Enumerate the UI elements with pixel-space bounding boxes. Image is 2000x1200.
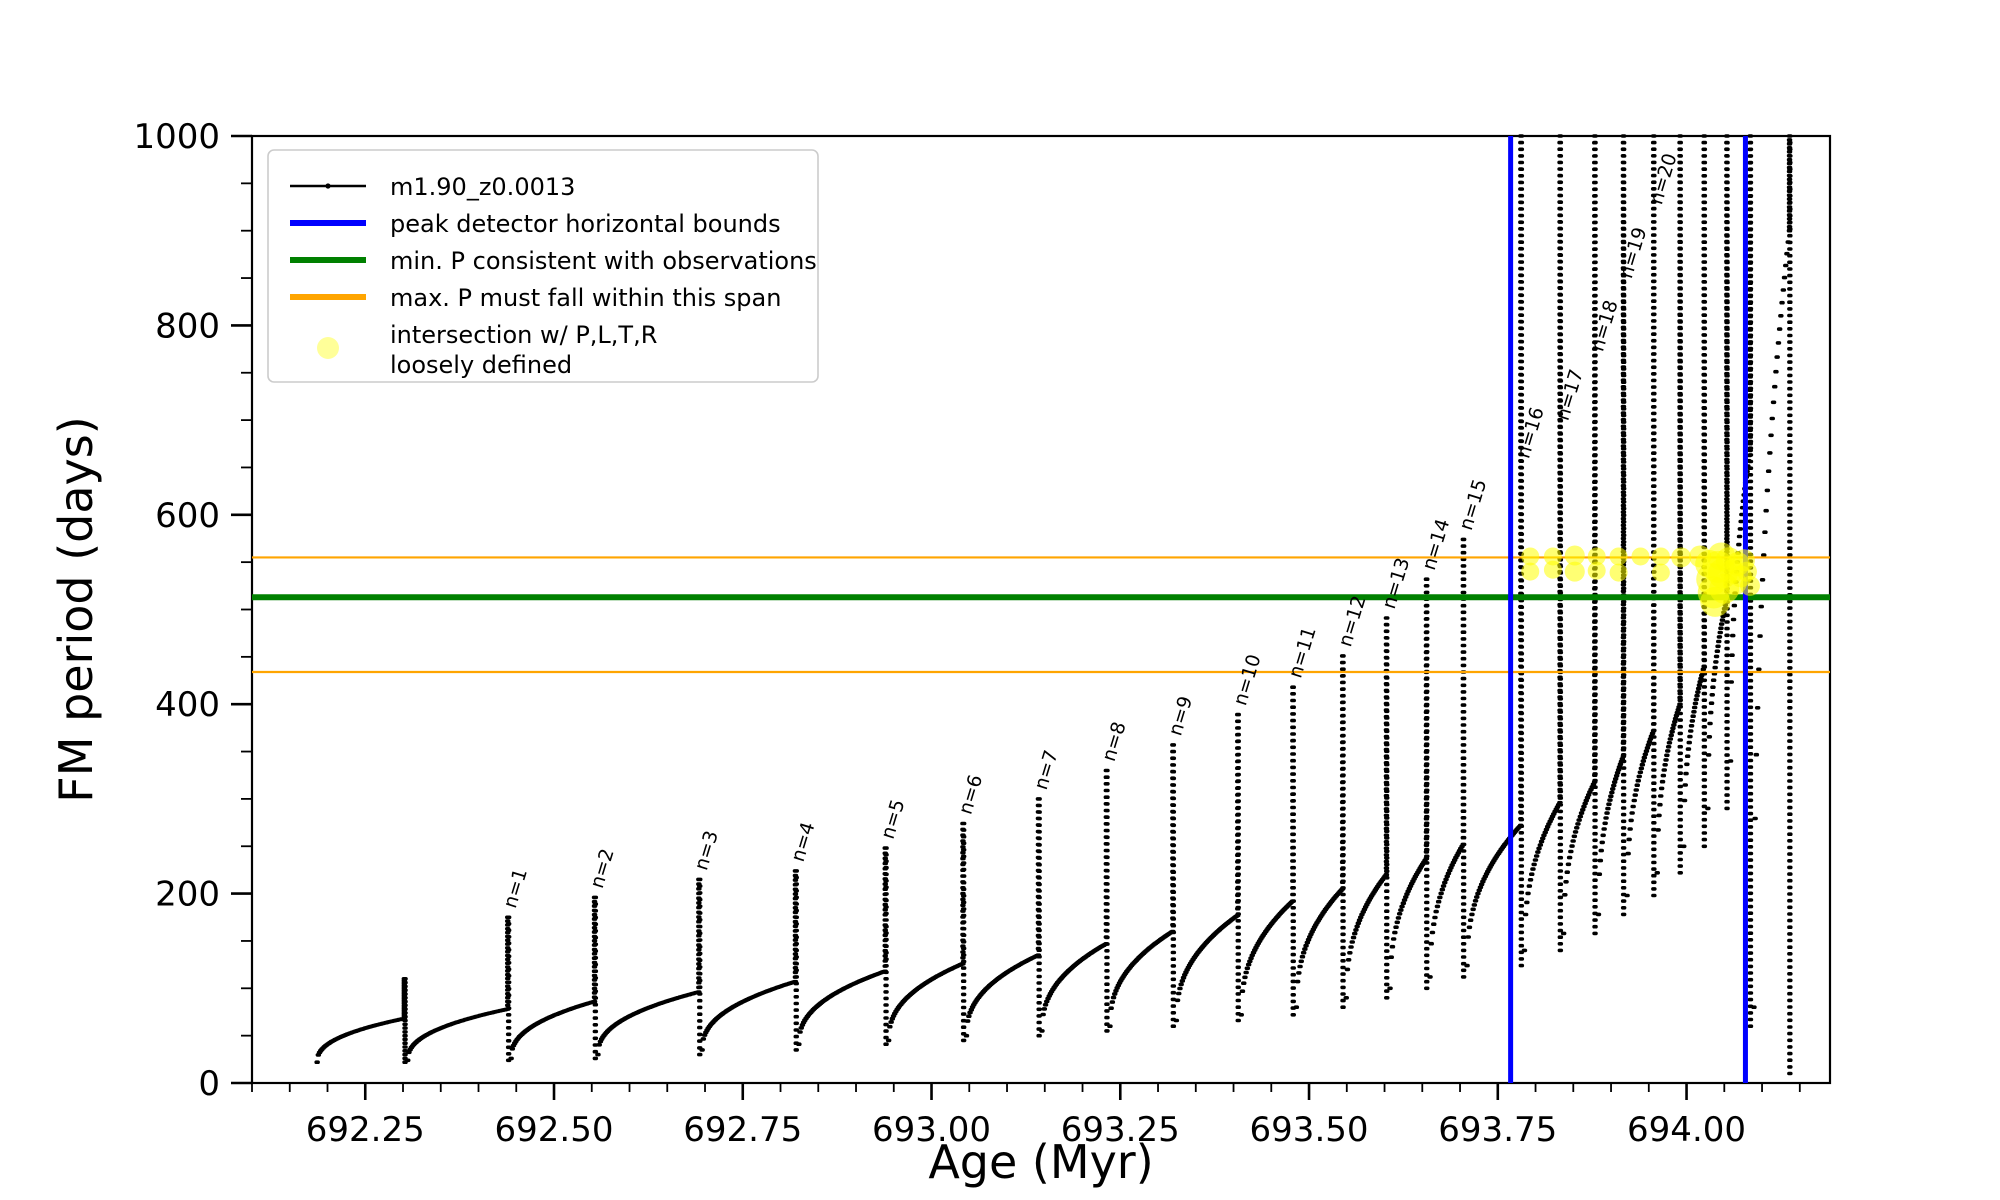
pulse-label-n-15: n=15 [1455, 477, 1491, 533]
pulse-label-n-3: n=3 [690, 828, 723, 873]
pulse-label-n-18: n=18 [1586, 298, 1622, 354]
y-tick-label: 600 [155, 496, 220, 536]
pulse-label-n-13: n=13 [1378, 555, 1414, 611]
legend-entry-label: min. P consistent with observations [390, 247, 817, 275]
legend-entry-label: intersection w/ P,L,T,R [390, 321, 657, 349]
intersection-markers-layer [1521, 542, 1760, 616]
pulse-label-n-8: n=8 [1098, 719, 1131, 764]
intersection-marker [1610, 564, 1628, 582]
pulse-label-n-5: n=5 [877, 797, 910, 842]
pulse-label-n-16: n=16 [1512, 405, 1548, 461]
pulse-label-n-19: n=19 [1615, 225, 1651, 281]
y-axis-title: FM period (days) [49, 416, 103, 802]
y-tick-label: 400 [155, 685, 220, 725]
pulse-label-n-14: n=14 [1418, 516, 1454, 572]
legend-entry-label: m1.90_z0.0013 [390, 173, 575, 201]
x-tick-label: 692.50 [495, 1110, 614, 1150]
legend-entry-label: peak detector horizontal bounds [390, 210, 781, 238]
pulse-label-n-12: n=12 [1334, 593, 1370, 649]
legend-layer[interactable]: m1.90_z0.0013peak detector horizontal bo… [268, 150, 818, 382]
pulse-label-n-6: n=6 [954, 772, 987, 817]
legend-swatch-point [325, 183, 330, 188]
x-tick-label: 692.75 [683, 1110, 802, 1150]
pulse-label-n-4: n=4 [787, 820, 820, 865]
legend-swatch-marker [317, 337, 339, 359]
y-tick-label: 200 [155, 875, 220, 915]
y-tick-label: 0 [198, 1064, 220, 1104]
pulse-label-n-1: n=1 [499, 866, 532, 911]
pulse-label-n-7: n=7 [1030, 748, 1063, 793]
x-tick-label: 694.00 [1627, 1110, 1746, 1150]
pulse-label-n-17: n=17 [1552, 367, 1588, 423]
pulse-label-n-20: n=20 [1645, 151, 1681, 207]
intersection-marker [1631, 547, 1649, 565]
intersection-marker [1740, 576, 1760, 596]
legend-entry-label: max. P must fall within this span [390, 284, 781, 312]
fm-period-vs-age-chart: 692.25692.50692.75693.00693.25693.50693.… [0, 0, 2000, 1200]
x-tick-label: 693.75 [1438, 1110, 1557, 1150]
intersection-marker [1544, 561, 1562, 579]
x-tick-label: 693.50 [1250, 1110, 1369, 1150]
intersection-marker [1671, 547, 1691, 567]
legend-entry-label-line2: loosely defined [390, 351, 572, 379]
intersection-marker [1565, 562, 1585, 582]
x-axis-title: Age (Myr) [928, 1135, 1153, 1189]
figure-canvas: 692.25692.50692.75693.00693.25693.50693.… [0, 0, 2000, 1200]
intersection-marker [1521, 563, 1539, 581]
pulse-label-n-9: n=9 [1164, 694, 1197, 739]
pulse-label-n-10: n=10 [1229, 652, 1265, 708]
intersection-marker [1588, 562, 1606, 580]
x-tick-label: 692.25 [306, 1110, 425, 1150]
intersection-marker [1652, 564, 1670, 582]
pulse-label-n-2: n=2 [586, 846, 619, 891]
intersection-marker [1652, 547, 1670, 565]
y-tick-label: 800 [155, 306, 220, 346]
y-tick-label: 1000 [133, 117, 220, 157]
intersection-marker [1610, 547, 1628, 565]
